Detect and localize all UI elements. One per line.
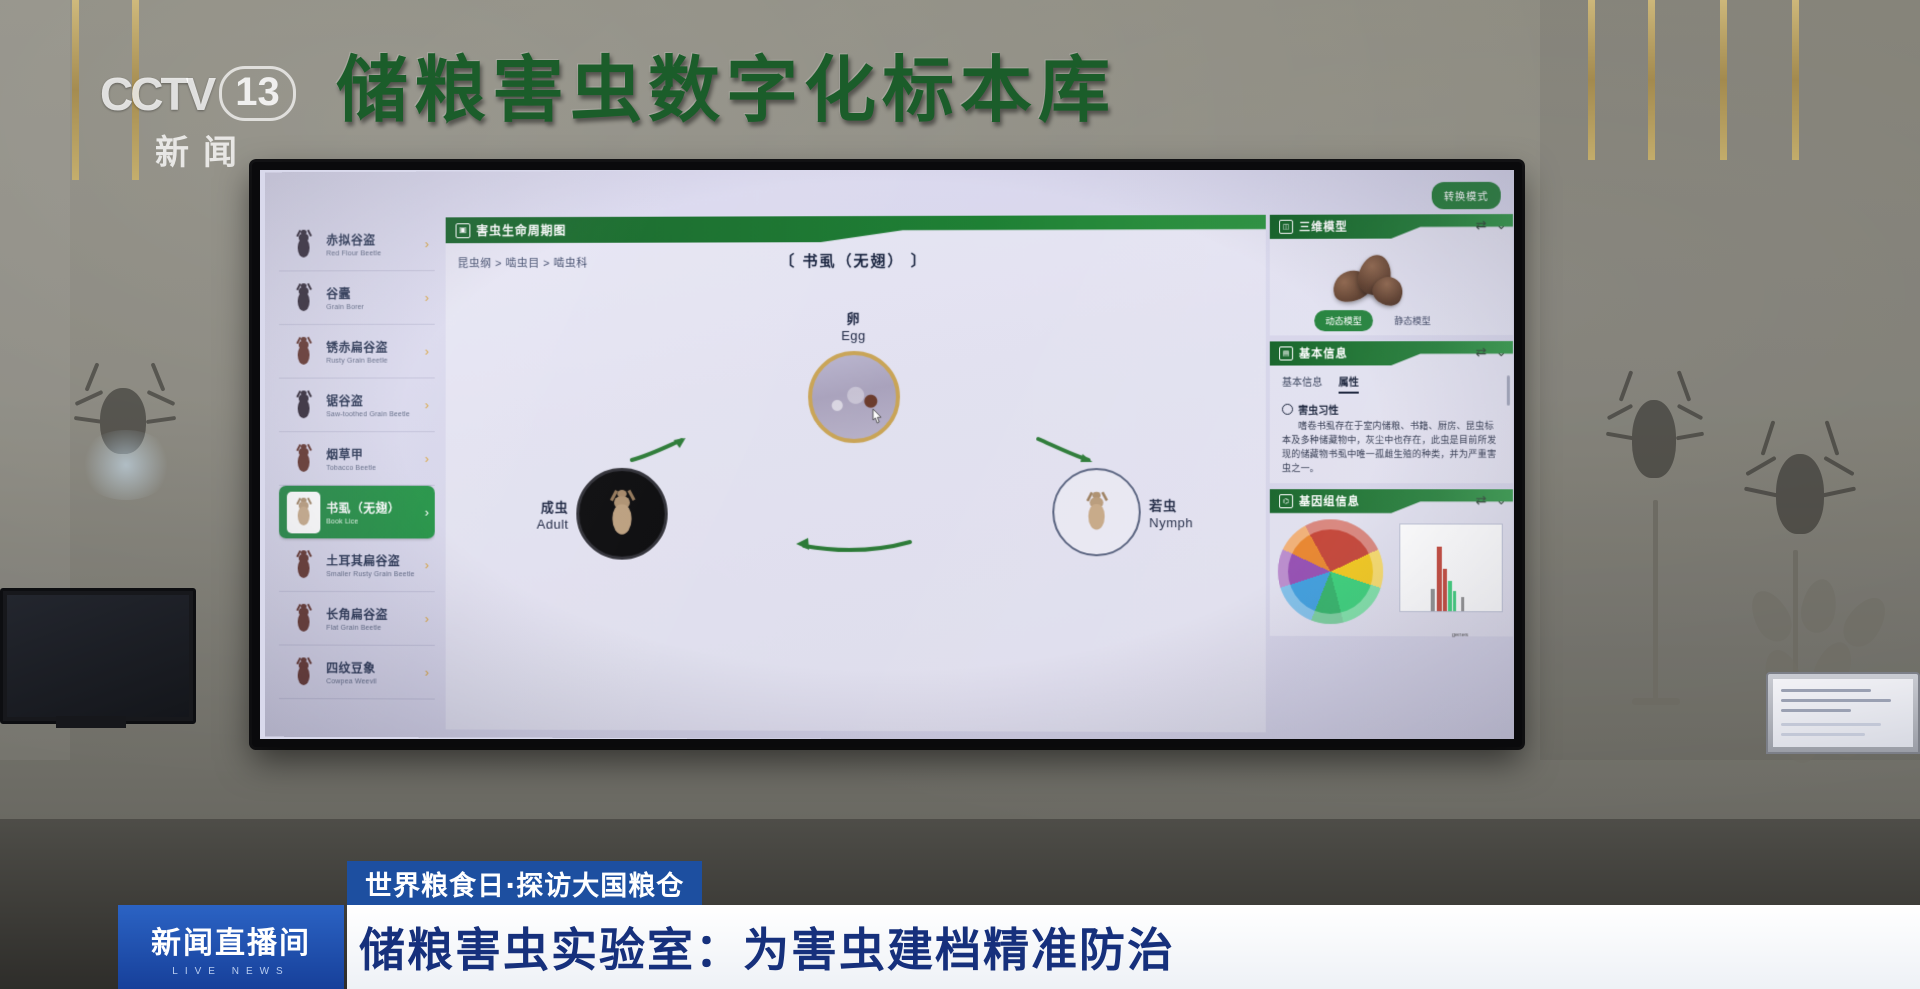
chevron-right-icon: ›: [417, 290, 429, 305]
tab-basic-info[interactable]: 基本信息: [1282, 374, 1322, 394]
chevron-right-icon: ›: [417, 344, 429, 359]
gene-density-plot[interactable]: [1399, 523, 1502, 612]
chevron-down-icon[interactable]: ⌄: [1496, 344, 1507, 360]
screenshot-root: 储粮害虫数字化标本库 CCTV 13 新闻: [0, 0, 1920, 989]
sidebar-item-label-cn: 锈赤扁谷盗: [326, 338, 417, 355]
lifecycle-panel: ▣ 害虫生命周期图 昆虫纲 > 啮虫目 > 啮虫科 〔 书虱（无翅） 〕 卵 E…: [446, 215, 1266, 733]
image-icon: ▣: [456, 223, 471, 238]
lifecycle-stage-adult[interactable]: 成虫 Adult: [537, 468, 668, 560]
sidebar-item-label-cn: 烟草甲: [326, 446, 417, 463]
chyron-kicker-text: 世界粮食日·探访大国粮仓: [365, 864, 684, 903]
basic-info-tabs[interactable]: 基本信息 属性: [1270, 365, 1513, 397]
panel-genome-info-tools[interactable]: ⇄ ⌄: [1476, 492, 1507, 508]
sidebar-item-label-cn: 谷蠹: [326, 285, 417, 302]
beetle-silhouette-right-1: [1600, 370, 1710, 510]
right-info-column: ◫ 三维模型 ⇄ ⌄: [1270, 214, 1513, 733]
beetle-icon: [287, 598, 320, 638]
cube-icon: ◫: [1279, 220, 1293, 234]
mouse-cursor: [870, 408, 884, 426]
stage-label-cn: 若虫: [1149, 495, 1193, 514]
swap-icon[interactable]: ⇄: [1476, 492, 1487, 508]
chevron-right-icon: ›: [417, 611, 429, 626]
static-model-button[interactable]: 静态模型: [1383, 310, 1442, 331]
desk-monitor-stand: [56, 716, 126, 728]
sidebar-item-red-flour-beetle[interactable]: 赤拟谷盗 Red Flour Beetle ›: [279, 217, 435, 271]
channel-logo-text: CCTV: [100, 67, 213, 121]
dna-icon: ⌬: [1279, 494, 1293, 508]
sidebar-item-label-cn: 长角扁谷盗: [326, 605, 417, 622]
genome-charts[interactable]: genes: [1270, 513, 1513, 636]
panel-genome-info: ⌬ 基因组信息 ⇄ ⌄: [1270, 489, 1513, 636]
sidebar-item-label-cn: 书虱（无翅）: [326, 499, 417, 516]
chevron-right-icon: ›: [417, 397, 429, 412]
sidebar-item-rusty-grain-beetle[interactable]: 锈赤扁谷盗 Rusty Grain Beetle ›: [279, 325, 435, 379]
switch-mode-button[interactable]: 转换模式: [1432, 182, 1501, 209]
chevron-right-icon: ›: [417, 557, 429, 572]
specimen-stand-1: [1653, 500, 1658, 700]
chevron-right-icon: ›: [417, 451, 429, 466]
stage-label-adult: 成虫 Adult: [537, 496, 569, 531]
sidebar-item-saw-toothed-grain-beetle[interactable]: 锯谷盗 Saw-toothed Grain Beetle ›: [279, 378, 435, 432]
habits-body-text: 嗜卷书虱存在于室内储粮、书籍、厨房、昆虫标本及多种储藏物中，灰尘中也存在，此虫是…: [1270, 420, 1513, 483]
specimen-database-app: 转换模式 赤拟谷盗 Red Flour Beetle ›: [265, 170, 1514, 739]
arrow-adult-to-egg: [630, 436, 690, 462]
lamp-glow: [78, 430, 174, 500]
tv-screen: 转换模式 赤拟谷盗 Red Flour Beetle ›: [260, 170, 1514, 739]
lifecycle-stage-egg[interactable]: 卵 Egg: [808, 308, 900, 443]
beetle-icon: [287, 385, 320, 425]
swap-icon[interactable]: ⇄: [1476, 217, 1487, 233]
stage-label-cn: 卵: [808, 308, 900, 327]
chyron-headline-bar: 储粮害虫实验室：为害虫建档精准防治: [347, 905, 1920, 989]
stage-label-egg: 卵 Egg: [808, 308, 900, 343]
stage-label-cn: 成虫: [537, 496, 569, 515]
bullet-icon: [1282, 404, 1293, 415]
dynamic-model-button[interactable]: 动态模型: [1314, 310, 1373, 331]
stage-image-nymph[interactable]: [1053, 468, 1141, 556]
section-title-text: 害虫习性: [1298, 402, 1338, 417]
laptop: [1766, 672, 1920, 754]
clipboard-icon: ▤: [1279, 346, 1293, 360]
scrollbar-thumb[interactable]: [1507, 375, 1510, 405]
beetle-icon: [287, 491, 320, 533]
panel-basic-info-tools[interactable]: ⇄ ⌄: [1476, 344, 1507, 360]
panel-basic-info-title: 基本信息: [1299, 345, 1348, 361]
stage-label-en: Egg: [808, 328, 900, 343]
beetle-icon: [287, 331, 320, 371]
desk-monitor: [0, 588, 196, 724]
gold-trim-4: [1648, 0, 1655, 160]
beetle-icon: [287, 278, 320, 318]
sidebar-item-label-en: Cowpea Weevil: [326, 678, 417, 685]
wall-title: 储粮害虫数字化标本库: [336, 54, 1116, 126]
sidebar-item-smaller-rusty-grain-beetle[interactable]: 土耳其扁谷盗 Smaller Rusty Grain Beetle ›: [279, 538, 435, 592]
chyron-kicker: 世界粮食日·探访大国粮仓: [347, 861, 702, 905]
specimen-title: 〔 书虱（无翅） 〕: [446, 249, 1266, 272]
sidebar-item-label-en: Grain Borer: [326, 303, 417, 310]
stage-image-egg[interactable]: [808, 351, 900, 443]
stage-label-nymph: 若虫 Nymph: [1149, 495, 1193, 530]
wall-display-tv: 转换模式 赤拟谷盗 Red Flour Beetle ›: [252, 162, 1522, 747]
gene-chart-label: genes: [1452, 632, 1469, 638]
specimen-stand-base-1: [1632, 698, 1680, 705]
sidebar-item-tobacco-beetle[interactable]: 烟草甲 Tobacco Beetle ›: [279, 432, 435, 486]
sidebar-item-book-lice[interactable]: 书虱（无翅） Book Lice ›: [279, 486, 435, 539]
pest-list-sidebar[interactable]: 赤拟谷盗 Red Flour Beetle › 谷蠹 Grain Borer ›: [279, 217, 435, 729]
arrow-nymph-to-adult: [794, 534, 914, 560]
chyron-headline-text: 储粮害虫实验室：为害虫建档精准防治: [359, 914, 1175, 980]
channel-watermark: CCTV 13 新闻: [100, 66, 300, 174]
section-title-habits: 害虫习性: [1270, 398, 1513, 420]
beetle-icon: [287, 439, 320, 479]
stage-image-adult[interactable]: [576, 468, 667, 560]
sidebar-item-label-en: Saw-toothed Grain Beetle: [326, 411, 417, 418]
lower-third: 世界粮食日·探访大国粮仓 储粮害虫实验室：为害虫建档精准防治 新闻直播间 LIV…: [0, 867, 1920, 989]
lifecycle-panel-header: ▣ 害虫生命周期图: [446, 215, 1266, 243]
sidebar-item-label-cn: 土耳其扁谷盗: [326, 552, 417, 569]
gold-trim-3: [1588, 0, 1595, 160]
model-viewport[interactable]: 动态模型 静态模型: [1270, 238, 1513, 335]
sidebar-item-label-cn: 四纹豆象: [326, 659, 417, 676]
panel-3d-model-tools[interactable]: ⇄ ⌄: [1476, 217, 1507, 233]
gold-trim-6: [1792, 0, 1799, 160]
panel-3d-model: ◫ 三维模型 ⇄ ⌄: [1270, 214, 1513, 335]
panel-genome-info-title: 基因组信息: [1299, 493, 1360, 509]
program-name: 新闻直播间: [151, 918, 311, 962]
swap-icon[interactable]: ⇄: [1476, 344, 1487, 360]
sidebar-item-flat-grain-beetle[interactable]: 长角扁谷盗 Flat Grain Beetle ›: [279, 592, 435, 646]
stage-label-en: Adult: [537, 516, 569, 531]
panel-basic-info: ▤ 基本信息 ⇄ ⌄ 基本信息 属性: [1270, 341, 1513, 483]
gold-trim-1: [72, 0, 79, 180]
gold-trim-5: [1720, 0, 1727, 160]
program-sub: LIVE NEWS: [172, 966, 289, 977]
egg-3d-model[interactable]: [1332, 253, 1411, 312]
sidebar-item-label-en: Rusty Grain Beetle: [326, 357, 417, 364]
radial-gene-chart[interactable]: [1278, 519, 1383, 624]
sidebar-item-label-en: Red Flour Beetle: [326, 250, 417, 257]
chevron-right-icon: ›: [417, 505, 429, 520]
lifecycle-diagram: 卵 Egg: [446, 285, 1266, 732]
chevron-down-icon[interactable]: ⌄: [1496, 492, 1507, 508]
chevron-right-icon: ›: [417, 236, 429, 251]
sidebar-item-label-en: Flat Grain Beetle: [326, 624, 417, 631]
beetle-icon: [287, 545, 320, 585]
panel-3d-model-title: 三维模型: [1299, 219, 1348, 235]
stage-label-en: Nymph: [1149, 515, 1193, 530]
sidebar-item-cowpea-weevil[interactable]: 四纹豆象 Cowpea Weevil ›: [279, 645, 435, 699]
tab-attributes[interactable]: 属性: [1339, 374, 1359, 394]
beetle-silhouette-right-2: [1740, 420, 1860, 570]
beetle-icon: [287, 224, 320, 264]
arrow-egg-to-nymph: [1034, 436, 1094, 462]
chevron-down-icon[interactable]: ⌄: [1496, 217, 1507, 233]
sidebar-item-label-cn: 锯谷盗: [326, 392, 417, 409]
beetle-icon: [287, 652, 320, 692]
lifecycle-panel-title: 害虫生命周期图: [476, 221, 566, 238]
chevron-right-icon: ›: [417, 665, 429, 680]
channel-number: 13: [219, 66, 296, 121]
sidebar-item-label-en: Tobacco Beetle: [326, 464, 417, 471]
sidebar-item-label-en: Smaller Rusty Grain Beetle: [326, 571, 417, 578]
sidebar-item-label-cn: 赤拟谷盗: [326, 231, 417, 248]
model-mode-buttons[interactable]: 动态模型 静态模型: [1314, 310, 1442, 331]
sidebar-item-label-en: Book Lice: [326, 518, 417, 525]
program-logo: 新闻直播间 LIVE NEWS: [118, 905, 344, 989]
lifecycle-stage-nymph[interactable]: 若虫 Nymph: [1053, 468, 1194, 556]
sidebar-item-grain-borer[interactable]: 谷蠹 Grain Borer ›: [279, 271, 435, 325]
